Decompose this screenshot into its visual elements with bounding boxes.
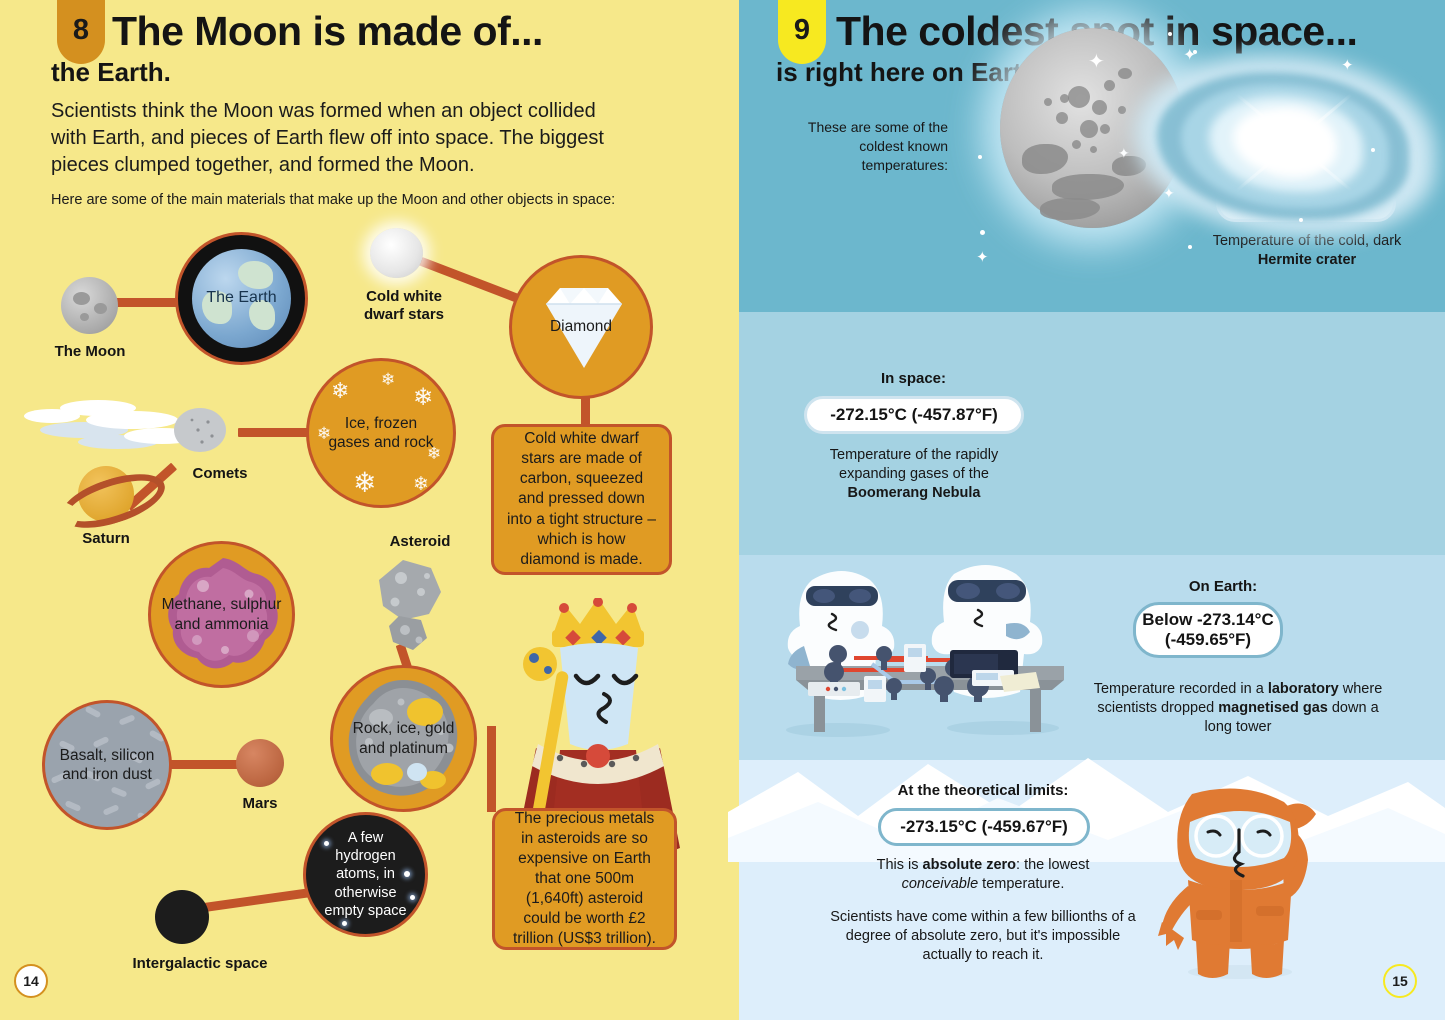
nebula-illustration: ✦ ✦ <box>1123 28 1443 253</box>
left-page-subtitle: the Earth. <box>51 57 171 88</box>
moon-illustration <box>61 277 118 334</box>
comet-illustration <box>22 390 237 470</box>
intergalactic-space-illustration <box>155 890 209 944</box>
heading-theoretical-limits: At the theoretical limits: <box>838 782 1128 799</box>
page-number-left: 14 <box>14 964 48 998</box>
star-dot <box>980 230 985 235</box>
snowflake-icon: ❄ <box>413 383 433 413</box>
white-dwarf-star-illustration <box>370 228 423 278</box>
label-comets: Comets <box>165 465 275 483</box>
bubble-hydrogen-text: A few hydrogen atoms, in otherwise empty… <box>323 829 409 920</box>
bubble-basalt: Basalt, silicon and iron dust <box>42 700 172 830</box>
star-dot <box>1299 218 1303 222</box>
bubble-methane-text: Methane, sulphur and ammonia <box>159 595 284 634</box>
label-mars: Mars <box>218 795 302 813</box>
bubble-ice: Ice, frozen gases and rock ❄ ❄ ❄ ❄ ❄ ❄ ❄ <box>306 358 456 508</box>
star-dot <box>410 895 415 900</box>
asteroid-illustration <box>365 556 460 656</box>
lab-svg <box>768 558 1098 743</box>
sparkle-icon: ✦ <box>1163 186 1175 200</box>
earth-label: The Earth <box>206 289 276 307</box>
label-saturn: Saturn <box>62 530 150 548</box>
sloth-character-illustration <box>1158 782 1323 982</box>
right-page-subtitle: is right here on Earth. <box>776 57 1045 88</box>
caption-on-earth: Temperature recorded in a laboratory whe… <box>1088 680 1388 737</box>
caption-in-space: Temperature of the rapidly expanding gas… <box>800 446 1028 503</box>
sparkle-icon: ✦ <box>1341 58 1354 73</box>
bubble-ice-text: Ice, frozen gases and rock <box>326 414 436 453</box>
caption-limits-p3: temperature. <box>978 876 1064 892</box>
page-gutter-edge <box>728 0 739 1020</box>
page-number-right-text: 15 <box>1392 973 1408 989</box>
value-on-earth-text: Below -273.14°C (-459.65°F) <box>1142 610 1274 651</box>
earth-disc: The Earth <box>192 249 291 348</box>
caption-earth-p1: Temperature recorded in a <box>1094 681 1268 697</box>
right-page: 9 The coldest spot in space... is right … <box>728 0 1445 1020</box>
snowflake-icon: ❄ <box>413 473 429 497</box>
value-theoretical-limits: -273.15°C (-459.67°F) <box>878 808 1090 846</box>
sparkle-icon: ✦ <box>1088 52 1105 72</box>
bubble-rock-gold-text: Rock, ice, gold and platinum <box>344 719 464 758</box>
right-intro-text: These are some of the coldest known temp… <box>803 118 948 175</box>
star-dot <box>1193 50 1197 54</box>
caption-earth-b2: magnetised gas <box>1218 700 1328 716</box>
closing-text: Scientists have come within a few billio… <box>828 908 1138 965</box>
label-dwarf-stars: Cold white dwarf stars <box>345 288 463 324</box>
callout-precious-metals: The precious metals in asteroids are so … <box>492 808 677 950</box>
snowflake-icon: ❄ <box>331 377 349 405</box>
connector-mars-basalt <box>162 760 244 769</box>
caption-theoretical-limits: This is absolute zero: the lowest concei… <box>838 856 1128 894</box>
value-in-space: -272.15°C (-457.87°F) <box>804 396 1024 434</box>
callout-metals-text: The precious metals in asteroids are so … <box>507 809 662 950</box>
caption-limits-i1: conceivable <box>902 876 979 892</box>
caption-space-pre: Temperature of the rapidly expanding gas… <box>830 447 998 482</box>
bubble-diamond: Diamond <box>509 255 653 399</box>
heading-in-space: In space: <box>806 370 1021 387</box>
star-dot <box>978 155 982 159</box>
caption-limits-p2: : the lowest <box>1016 857 1089 873</box>
label-the-moon: The Moon <box>40 343 140 361</box>
caption-limits-b1: absolute zero <box>923 857 1016 873</box>
caption-limits-p1: This is <box>877 857 923 873</box>
callout-dwarf-text: Cold white dwarf stars are made of carbo… <box>506 429 657 570</box>
left-number-badge: 8 <box>57 0 105 64</box>
earth-illustration: The Earth <box>175 232 308 365</box>
bubble-hydrogen: A few hydrogen atoms, in otherwise empty… <box>303 812 428 937</box>
bubble-basalt-text: Basalt, silicon and iron dust <box>57 746 157 785</box>
star-dot <box>342 921 347 926</box>
caption-space-bold: Boomerang Nebula <box>848 485 981 501</box>
mars-illustration <box>236 739 284 787</box>
laboratory-illustration <box>768 558 1098 743</box>
sparkle-icon: ✦ <box>976 250 989 265</box>
page-number-left-text: 14 <box>23 973 39 989</box>
bubble-diamond-text: Diamond <box>550 317 612 336</box>
page-number-right: 15 <box>1383 964 1417 998</box>
value-on-earth: Below -273.14°C (-459.65°F) <box>1133 602 1283 658</box>
left-page-title: The Moon is made of... <box>112 8 543 55</box>
mountains-illustration <box>728 742 1445 862</box>
bubble-rock-gold: Rock, ice, gold and platinum <box>330 665 477 812</box>
heading-on-earth: On Earth: <box>1108 578 1338 595</box>
snowflake-icon: ❄ <box>381 369 395 390</box>
connector-blackhole-hydrogen <box>189 887 319 914</box>
stem-rock-callout <box>487 726 496 812</box>
caption-earth-b1: laboratory <box>1268 681 1339 697</box>
caption-moon-bold: Hermite crater <box>1258 252 1356 268</box>
right-number-badge: 9 <box>778 0 826 64</box>
left-page-lead-in: Here are some of the main materials that… <box>51 192 671 208</box>
star-dot <box>1371 148 1375 152</box>
book-spread: 8 The Moon is made of... the Earth. Scie… <box>0 0 1445 1020</box>
label-asteroid: Asteroid <box>372 533 468 551</box>
callout-dwarf-stars: Cold white dwarf stars are made of carbo… <box>491 424 672 575</box>
left-page-body: Scientists think the Moon was formed whe… <box>51 98 606 178</box>
snowflake-icon: ❄ <box>353 465 376 500</box>
label-intergalactic-space: Intergalactic space <box>110 955 290 973</box>
sloth-svg <box>1158 782 1323 982</box>
left-page: 8 The Moon is made of... the Earth. Scie… <box>0 0 728 1020</box>
bubble-methane: Methane, sulphur and ammonia <box>148 541 295 688</box>
